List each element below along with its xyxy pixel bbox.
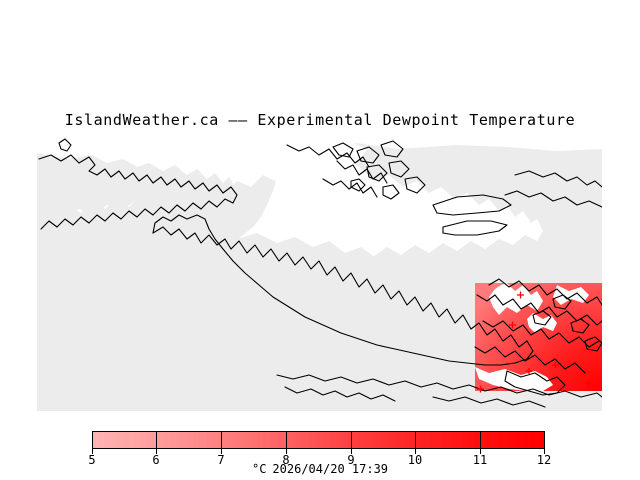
colorbar-caption: °C2026/04/20 17:39 [0, 462, 640, 476]
colorbar-divider [286, 431, 287, 449]
map-panel[interactable] [37, 135, 602, 411]
colorbar-divider [156, 431, 157, 449]
colorbar-divider [480, 431, 481, 449]
temperature-unit-label: °C [252, 462, 266, 476]
timestamp-label: 2026/04/20 17:39 [272, 462, 388, 476]
colorbar-divider [415, 431, 416, 449]
map-canvas[interactable] [37, 135, 602, 411]
page-title: IslandWeather.ca —— Experimental Dewpoin… [0, 111, 640, 129]
colorbar[interactable]: 5 6 7 8 9 10 11 12 [92, 431, 545, 449]
colorbar-divider [351, 431, 352, 449]
colorbar-gradient[interactable] [92, 431, 545, 449]
colorbar-divider [221, 431, 222, 449]
